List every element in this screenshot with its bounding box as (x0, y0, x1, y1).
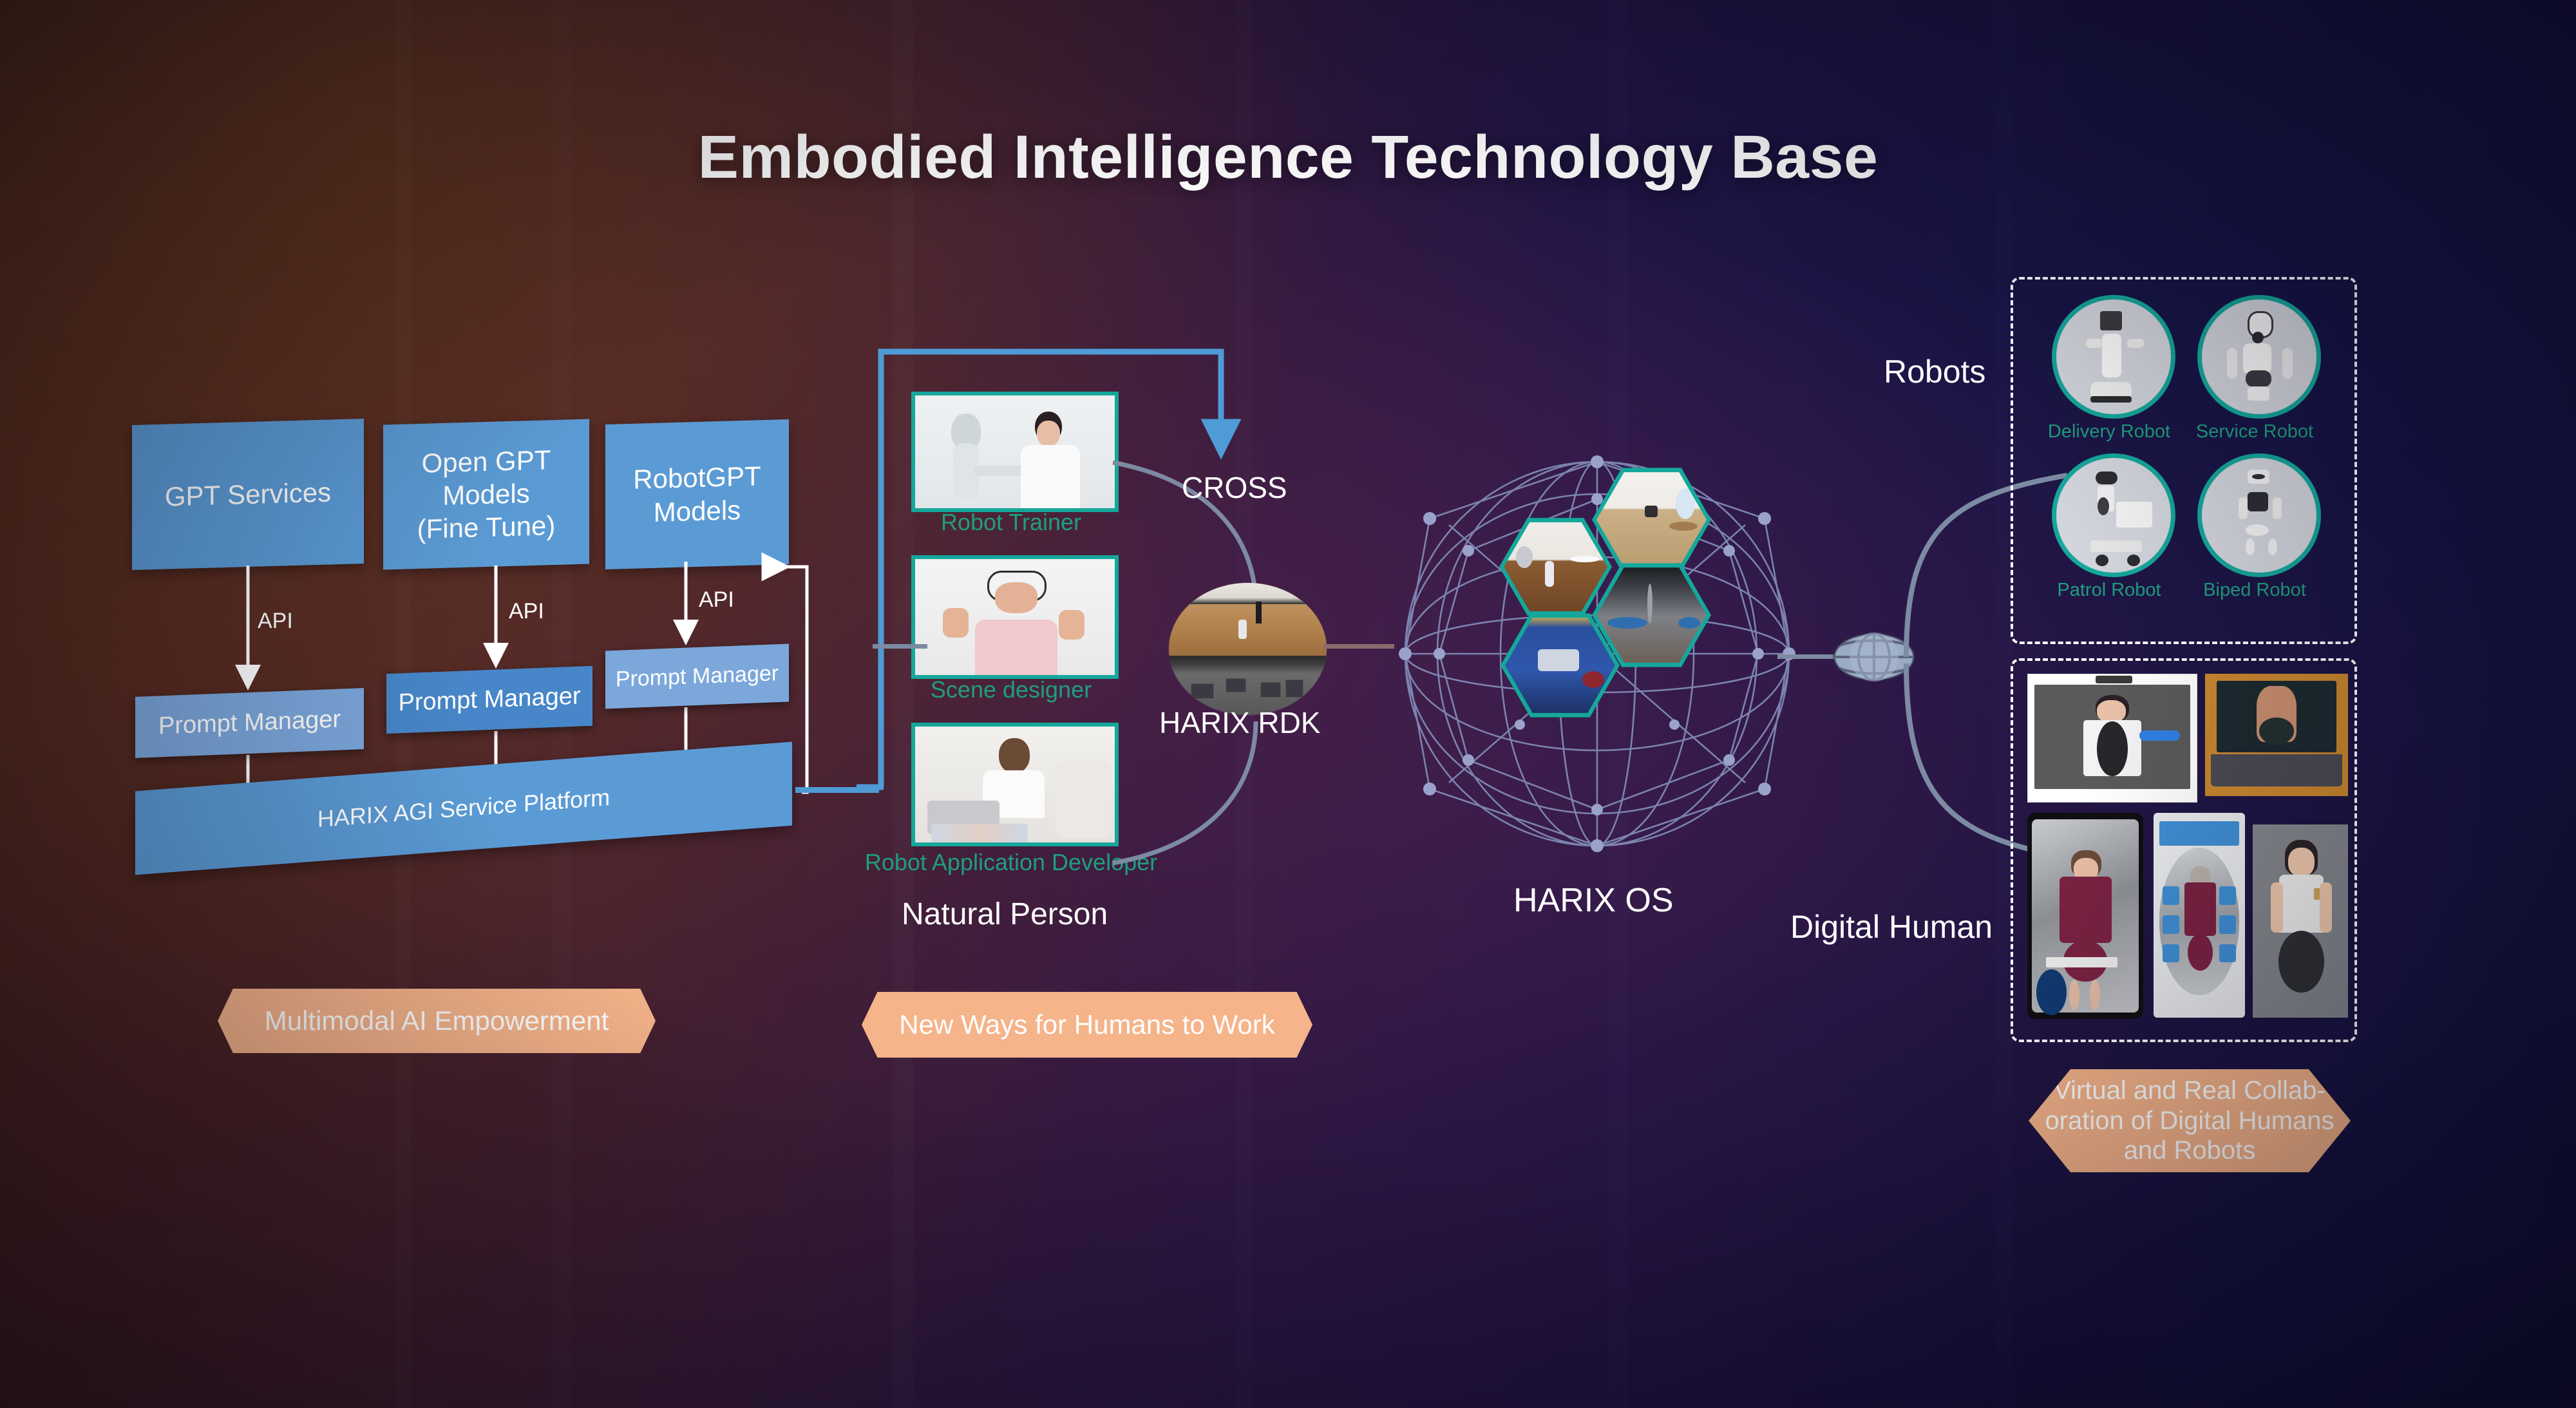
robot-icon-delivery-robot[interactable] (2052, 295, 2175, 419)
robot-icon-biped-robot[interactable] (2197, 453, 2321, 577)
bracket-midline (873, 644, 927, 649)
robot-label-delivery-robot: Delivery Robot (2029, 421, 2190, 442)
robot-icon-service-robot[interactable] (2197, 295, 2321, 419)
prompt-manager-box-2[interactable]: Prompt Manager (386, 666, 592, 734)
api-label-3: API (699, 587, 734, 613)
digital-human-phone-avatar[interactable] (2027, 813, 2143, 1019)
digital-human-title: Digital Human (1790, 908, 1993, 946)
robot-label-biped-robot: Biped Robot (2174, 580, 2335, 601)
prompt-manager-box-3[interactable]: Prompt Manager (605, 644, 789, 709)
harix-os-label: HARIX OS (1513, 881, 1674, 920)
digital-human-laptop-demo[interactable] (2205, 674, 2348, 796)
natural-person-group-label: Natural Person (902, 897, 1108, 932)
cross-label: CROSS (1182, 470, 1287, 505)
os-hex-tile-arena[interactable] (1501, 611, 1620, 719)
robot-application-developer-photo (915, 727, 1115, 842)
prompt-manager-box-1[interactable]: Prompt Manager (135, 688, 364, 758)
os-hex-tile-room[interactable] (1592, 466, 1711, 574)
robot-label-patrol-robot: Patrol Robot (2029, 580, 2190, 601)
harix-rdk-label: HARIX RDK (1159, 705, 1320, 740)
api-label-2: API (509, 599, 544, 624)
prompt-manager-label: Prompt Manager (158, 706, 341, 741)
role-label-scene-designer: Scene designer (911, 676, 1111, 703)
robots-title: Robots (1884, 353, 1985, 390)
role-card-robot-trainer[interactable] (911, 392, 1119, 512)
digital-human-avatar-portrait[interactable] (2253, 824, 2348, 1018)
harix-os-sphere[interactable] (1372, 428, 1823, 879)
robot-label-service-robot: Service Robot (2174, 421, 2335, 442)
role-card-robot-application-developer[interactable] (911, 723, 1119, 846)
robot-icon-patrol-robot[interactable] (2052, 453, 2175, 577)
banner-virtual-and-real-collaboration[interactable]: Virtual and Real Collab-oration of Digit… (2029, 1069, 2351, 1172)
banner-new-ways-for-humans-to-work[interactable]: New Ways for Humans to Work (862, 992, 1312, 1058)
role-card-scene-designer[interactable] (911, 555, 1119, 679)
prompt-manager-label: Prompt Manager (398, 683, 580, 718)
banner-label: Virtual and Real Collab-oration of Digit… (2045, 1076, 2334, 1165)
robot-trainer-photo (915, 395, 1115, 508)
diagram-canvas: Embodied Intelligence Technology Base GP… (0, 0, 2576, 1408)
digital-human-screen-kiosk[interactable] (2027, 674, 2197, 803)
banner-label: Multimodal AI Empowerment (265, 1005, 609, 1037)
api-label-1: API (258, 609, 293, 634)
harix-rdk-image[interactable] (1169, 583, 1327, 715)
role-label-robot-trainer: Robot Trainer (911, 509, 1111, 536)
scene-designer-photo (915, 559, 1115, 675)
prompt-manager-label: Prompt Manager (616, 661, 779, 692)
banner-multimodal-ai-empowerment[interactable]: Multimodal AI Empowerment (218, 989, 656, 1053)
banner-label: New Ways for Humans to Work (899, 1009, 1274, 1041)
digital-human-kiosk-avatar[interactable] (2154, 813, 2245, 1018)
